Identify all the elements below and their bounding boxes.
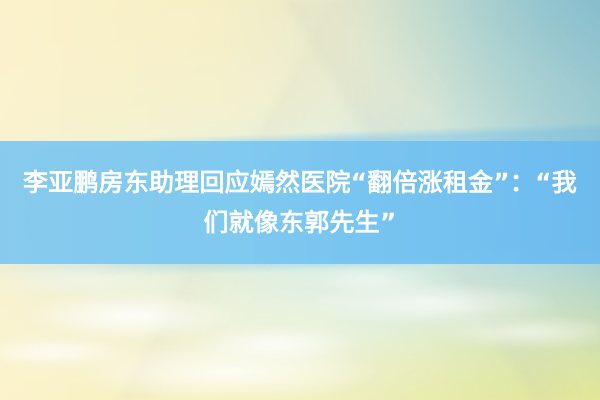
screenshot-root: 李亚鹏房东助理回应嫣然医院“翻倍涨租金”：“我们就像东郭先生”	[0, 0, 600, 400]
headline-text: 李亚鹏房东助理回应嫣然医院“翻倍涨租金”：“我们就像东郭先生”	[14, 163, 586, 243]
headline-banner: 李亚鹏房东助理回应嫣然医院“翻倍涨租金”：“我们就像东郭先生”	[0, 141, 600, 264]
